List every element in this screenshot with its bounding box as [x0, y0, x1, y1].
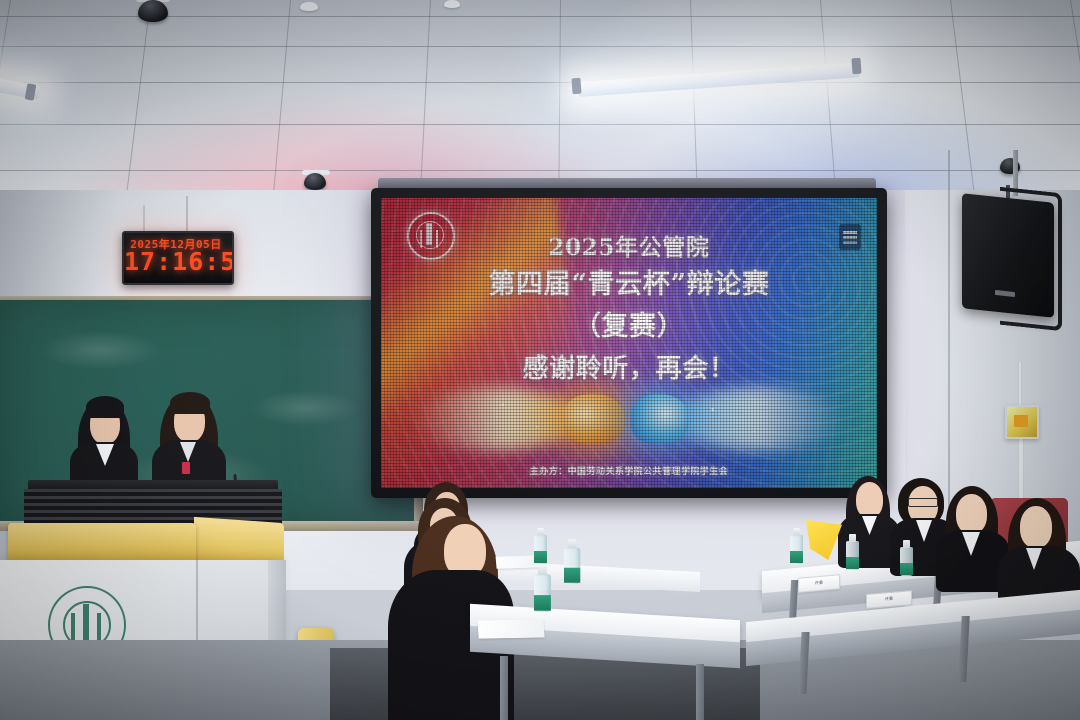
table-leg — [696, 664, 704, 720]
clock-hanging-cable — [143, 205, 145, 232]
bottle-label — [846, 557, 859, 569]
paper-documents[interactable] — [477, 619, 544, 638]
lanyard-badge — [182, 462, 190, 474]
bottle-body — [900, 547, 913, 576]
clock-hanging-cable — [186, 196, 188, 232]
bottle-label — [564, 568, 580, 583]
eyeglasses-icon — [908, 498, 938, 507]
name-card-text: 评委 — [799, 578, 839, 587]
electrical-wall-box[interactable] — [1005, 405, 1039, 439]
led-screen-vignette — [381, 198, 877, 488]
water-bottle[interactable] — [534, 528, 547, 564]
name-card-text: 评委 — [867, 594, 911, 604]
hair-top — [86, 396, 124, 418]
water-bottle[interactable] — [790, 528, 803, 564]
smoke-detector — [444, 0, 460, 8]
wall-conduit — [1019, 362, 1021, 408]
bottle-body — [790, 535, 803, 564]
water-bottle[interactable] — [846, 534, 859, 570]
clock-time: 17:16:50 — [124, 248, 228, 276]
head — [956, 494, 987, 534]
led-wall-clock: 2025年12月05日 17:16:50 — [122, 231, 234, 285]
bottle-label — [790, 551, 803, 563]
podium-nameplate: 中国劳动关系学院 CHINA UNIVERSITY OF LABOR RELAT… — [8, 523, 196, 563]
ceiling — [0, 0, 1080, 205]
lecture-hall-scene: 2025年公管院 第四届“青云杯”辩论赛 （复赛） 感谢聆听，再会！ 主办方：中… — [0, 0, 1080, 720]
head — [1020, 506, 1052, 548]
bottle-label — [900, 563, 913, 575]
tube-light-end-cap — [571, 78, 581, 95]
tube-light-end-cap — [851, 58, 861, 75]
bottle-body — [534, 535, 547, 564]
bottle-body — [564, 548, 580, 584]
water-bottle[interactable] — [534, 565, 551, 612]
bottle-label — [534, 595, 551, 611]
ceiling-dome-camera — [304, 173, 326, 190]
hair-top — [170, 392, 210, 414]
wall-speaker — [962, 193, 1054, 318]
ceiling-dome-camera — [138, 0, 168, 22]
head — [856, 482, 883, 518]
bottle-label — [534, 551, 547, 563]
water-bottle[interactable] — [900, 540, 913, 576]
bottle-body — [534, 574, 551, 612]
bottle-body — [846, 541, 859, 570]
water-bottle[interactable] — [564, 539, 580, 584]
table-leg — [500, 656, 508, 720]
smoke-detector — [300, 2, 318, 11]
led-display-screen: 2025年公管院 第四届“青云杯”辩论赛 （复赛） 感谢聆听，再会！ 主办方：中… — [381, 198, 877, 488]
wall-corner-line — [948, 150, 950, 530]
